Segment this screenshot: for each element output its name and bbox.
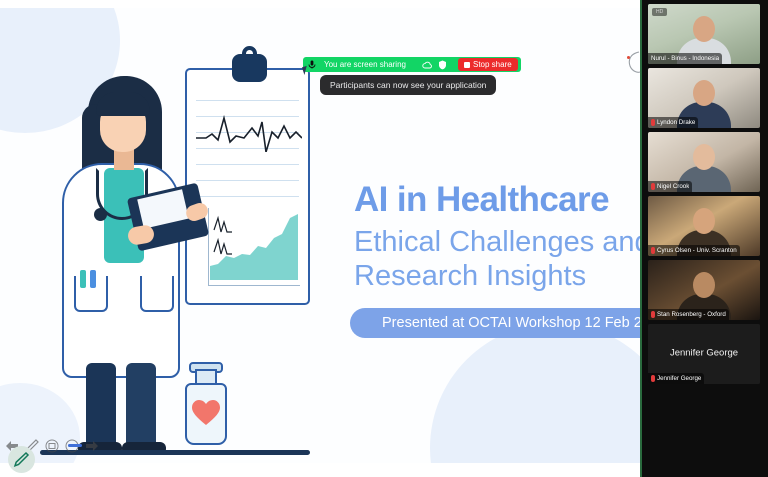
coat-pocket-right — [140, 276, 174, 312]
participant-tile[interactable]: Cyrus Olsen - Univ. Scranton — [648, 196, 760, 256]
ecg-line-icon — [196, 112, 302, 152]
share-tooltip: Participants can now see your applicatio… — [320, 75, 496, 95]
next-slide-icon[interactable] — [84, 438, 99, 453]
clipboard-rule-line — [196, 164, 299, 165]
clipboard-rule-line — [196, 100, 299, 101]
participant-name-bar: Nigel Crook — [648, 181, 692, 192]
slide-progress-bar[interactable] — [68, 444, 82, 447]
muted-mic-icon — [651, 247, 655, 254]
cloud-icon[interactable] — [422, 59, 434, 71]
participant-head — [693, 208, 715, 234]
participant-head — [693, 272, 715, 298]
muted-mic-icon — [651, 375, 655, 382]
doctor-leg-right — [126, 363, 156, 448]
video-quality-label: HD — [652, 8, 667, 16]
muted-mic-icon — [651, 183, 655, 190]
muted-mic-icon — [651, 311, 655, 318]
clipboard-clamp-icon — [232, 54, 267, 82]
participant-name-bar: Nurul - Binus - Indonesia — [648, 53, 722, 64]
area-chart-illustration — [208, 208, 300, 286]
stop-share-button[interactable]: Stop share — [458, 58, 518, 71]
slides-icon[interactable] — [44, 438, 59, 453]
participant-name: Stan Rosenberg - Oxford — [657, 311, 726, 318]
presentation-slide: AI in Healthcare Ethical Challenges and … — [0, 8, 640, 463]
participant-name-bar: Cyrus Olsen - Univ. Scranton — [648, 245, 740, 256]
participant-video-panel: HD Nurul - Binus - Indonesia Lyndon Drak… — [640, 0, 768, 477]
participant-name: Cyrus Olsen - Univ. Scranton — [657, 247, 737, 254]
collapse-panel-handle[interactable] — [626, 48, 642, 76]
recording-indicator-dot — [627, 56, 630, 59]
doctor-fringe — [96, 92, 150, 116]
heart-icon — [192, 400, 220, 426]
clipboard-rule-line — [196, 196, 299, 197]
participant-tile[interactable]: HD Nurul - Binus - Indonesia — [648, 4, 760, 64]
muted-mic-icon — [651, 119, 655, 126]
participant-head — [693, 16, 715, 42]
annotate-pen-icon[interactable] — [8, 446, 35, 473]
stethoscope-bell — [94, 208, 107, 221]
slide-footer-text: Presented at OCTAI Workshop 12 Feb 2025 — [382, 315, 640, 331]
participant-head — [693, 80, 715, 106]
participant-tile[interactable]: Lyndon Drake — [648, 68, 760, 128]
participant-tile[interactable]: Stan Rosenberg - Oxford — [648, 260, 760, 320]
slide-footer-pill: Presented at OCTAI Workshop 12 Feb 2025 — [350, 308, 640, 338]
decorative-blob-bottom-right — [430, 323, 640, 463]
participant-name: Jennifer George — [657, 375, 701, 382]
participant-head — [693, 144, 715, 170]
slide-title: AI in Healthcare — [354, 180, 609, 220]
participant-name-bar: Stan Rosenberg - Oxford — [648, 309, 729, 320]
participant-display-name: Jennifer George — [648, 347, 760, 358]
participant-name-bar: Lyndon Drake — [648, 117, 698, 128]
doctor-leg-left — [86, 363, 116, 448]
participant-name: Nurul - Binus - Indonesia — [651, 55, 719, 62]
screen-share-banner: You are screen sharing Stop share — [303, 57, 521, 72]
slide-subtitle-line-2: Research Insights — [354, 260, 586, 293]
participant-tile[interactable]: Nigel Crook — [648, 132, 760, 192]
conference-window: AI in Healthcare Ethical Challenges and … — [0, 0, 768, 477]
participant-name: Lyndon Drake — [657, 119, 695, 126]
share-status-text: You are screen sharing — [324, 60, 406, 69]
stop-square-icon — [464, 62, 470, 68]
clipboard-rule-line — [196, 180, 299, 181]
shield-icon[interactable] — [437, 59, 449, 71]
participant-name-bar: Jennifer George — [648, 373, 704, 384]
pocket-pen-blue — [90, 270, 96, 288]
participant-tile[interactable]: Jennifer George Jennifer George — [648, 324, 760, 384]
pocket-pen-teal — [80, 270, 86, 288]
slide-subtitle-line-1: Ethical Challenges and — [354, 226, 640, 259]
participant-name: Nigel Crook — [657, 183, 689, 190]
stop-share-label: Stop share — [473, 60, 512, 69]
